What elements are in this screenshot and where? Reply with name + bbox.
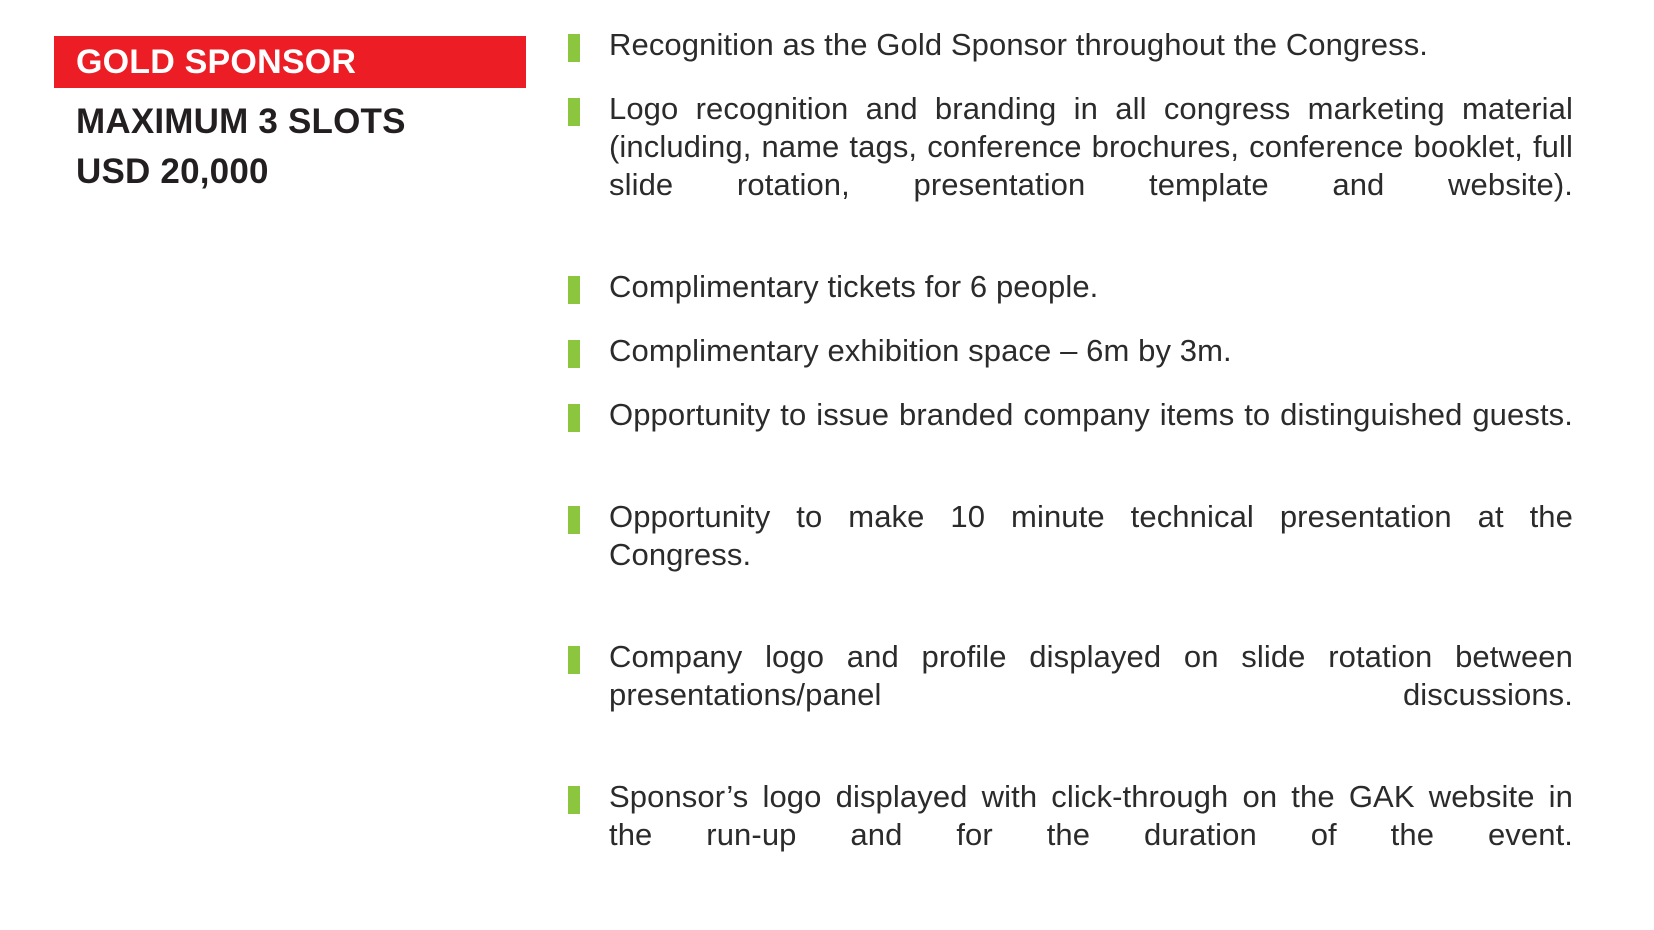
benefit-text: Opportunity to make 10 minute technical … — [609, 498, 1573, 612]
list-item: Complimentary exhibition space – 6m by 3… — [568, 332, 1573, 370]
sponsorship-tier-slide: GOLD SPONSOR MAXIMUM 3 SLOTS USD 20,000 … — [0, 0, 1654, 930]
green-square-bullet-icon — [568, 786, 580, 814]
benefit-text: Sponsor’s logo displayed with click-thro… — [609, 778, 1573, 892]
benefit-text: Opportunity to issue branded company ite… — [609, 396, 1573, 472]
list-item: Opportunity to issue branded company ite… — [568, 396, 1573, 472]
green-square-bullet-icon — [568, 98, 580, 126]
sponsor-tier-meta: MAXIMUM 3 SLOTS USD 20,000 — [54, 97, 526, 197]
green-square-bullet-icon — [568, 276, 580, 304]
benefits-list: Recognition as the Gold Sponsor througho… — [568, 26, 1573, 918]
sponsor-tier-heading-block: GOLD SPONSOR MAXIMUM 3 SLOTS USD 20,000 — [54, 36, 526, 197]
green-square-bullet-icon — [568, 646, 580, 674]
list-item: Company logo and profile displayed on sl… — [568, 638, 1573, 752]
list-item: Logo recognition and branding in all con… — [568, 90, 1573, 242]
list-item: Sponsor’s logo displayed with click-thro… — [568, 778, 1573, 892]
green-square-bullet-icon — [568, 404, 580, 432]
green-square-bullet-icon — [568, 340, 580, 368]
list-item: Opportunity to make 10 minute technical … — [568, 498, 1573, 612]
benefit-text: Complimentary tickets for 6 people. — [609, 268, 1573, 306]
benefit-text: Logo recognition and branding in all con… — [609, 90, 1573, 242]
max-slots-label: MAXIMUM 3 SLOTS — [76, 97, 526, 147]
list-item: Complimentary tickets for 6 people. — [568, 268, 1573, 306]
green-square-bullet-icon — [568, 506, 580, 534]
benefit-text: Recognition as the Gold Sponsor througho… — [609, 26, 1573, 64]
list-item: Recognition as the Gold Sponsor througho… — [568, 26, 1573, 64]
benefit-text: Company logo and profile displayed on sl… — [609, 638, 1573, 752]
green-square-bullet-icon — [568, 34, 580, 62]
price-label: USD 20,000 — [76, 147, 526, 197]
benefit-text: Complimentary exhibition space – 6m by 3… — [609, 332, 1573, 370]
gold-sponsor-banner: GOLD SPONSOR — [54, 36, 526, 88]
